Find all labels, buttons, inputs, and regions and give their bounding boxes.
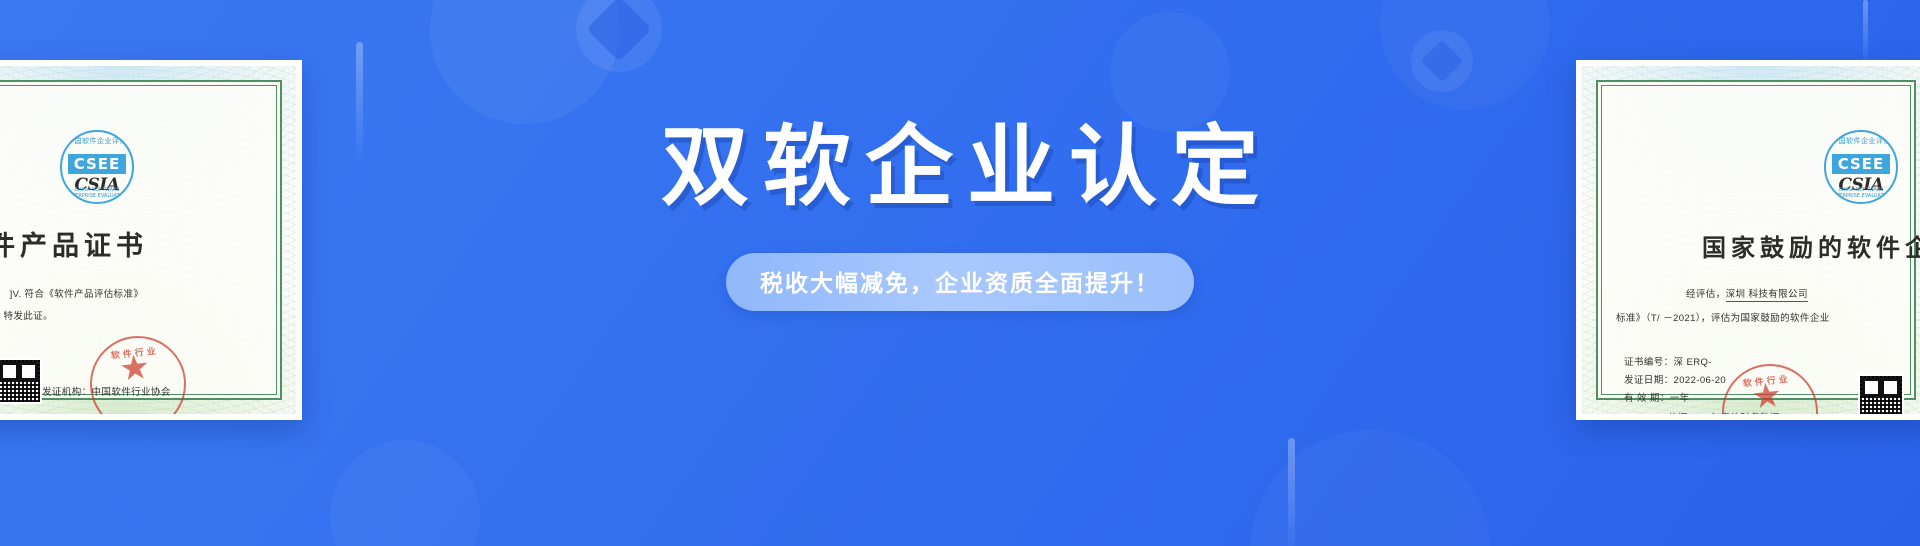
certificate-right-field-1: 发证日期：2022-06-20 [1624,372,1726,386]
field-value: 一年 [1670,393,1690,404]
decorative-diamond-badge-2 [1411,30,1473,92]
promo-banner: 中国软件企业评估 CSEE CSIA CHINA SOFTWARE ENTERP… [0,0,1920,546]
decorative-circle-4 [1250,430,1490,546]
red-stamp-right: 软件行业 协会 [1717,359,1823,414]
banner-center-copy: 双软企业认定 税收大幅减免，企业资质全面提升！ [0,118,1920,311]
banner-subtitle-pill: 税收大幅减免，企业资质全面提升！ [726,253,1194,311]
decorative-bar-2 [1288,438,1295,546]
qr-code-left [0,358,42,404]
certificate-right-field-2: 有 效 期：一年 [1624,390,1690,404]
qr-code-right [1858,374,1904,414]
decorative-circle-2 [1110,12,1230,132]
certificate-left-issuer-label: 发证机构： [42,387,92,398]
decorative-circle-5 [1380,0,1550,110]
certificate-right-standard-line: 标准》（T/ －2021），评估为国家鼓励的软件企业 [1616,310,1830,324]
field-value: 2022-06-20 [1674,375,1727,386]
field-label: 发证日期： [1624,375,1674,386]
certificate-right-field-0: 证书编号：深 ERQ- [1624,354,1712,368]
decorative-diamond-badge-1 [576,0,662,72]
field-value: 深 ERQ- [1674,357,1712,368]
decorative-circle-3 [330,440,480,546]
stamp-arc-bottom-text: 协会 [95,408,188,414]
diamond-icon-small [1421,40,1463,82]
field-label: 有 效 期： [1624,393,1670,404]
decorative-circle-1 [430,0,620,124]
red-stamp-left: 软件行业 协会 [85,331,191,414]
field-label: 证书编号： [1624,357,1674,368]
banner-headline: 双软企业认定 [0,118,1920,217]
diamond-icon [586,0,651,62]
